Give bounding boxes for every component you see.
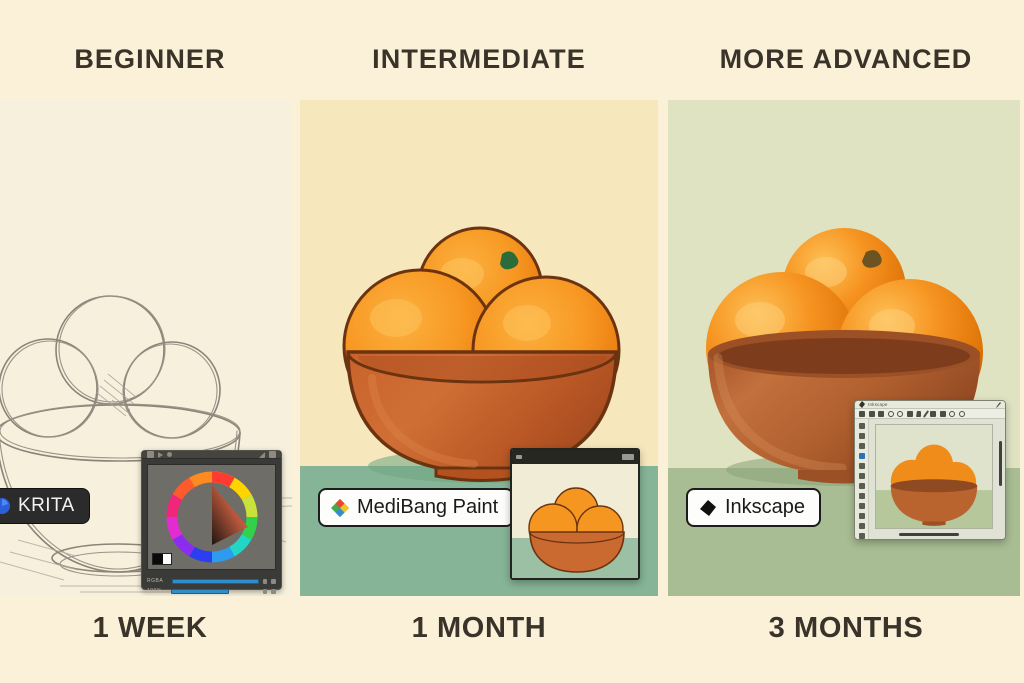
gradient-icon[interactable]	[949, 411, 955, 417]
inkscape-canvas-area[interactable]	[869, 419, 1005, 539]
krita-color-selector-docker[interactable]: RGBA 100%	[141, 450, 282, 590]
inkscape-body	[855, 419, 1005, 539]
paint-bucket-tool-icon[interactable]	[859, 533, 865, 539]
column-heading-intermediate: INTERMEDIATE	[300, 44, 658, 75]
star-icon[interactable]	[897, 411, 903, 417]
column-heading-beginner: BEGINNER	[0, 44, 300, 75]
gradient-tool-icon[interactable]	[859, 503, 865, 509]
miniwin-titlebar[interactable]	[512, 450, 638, 464]
slider-track-rgba[interactable]	[172, 579, 259, 584]
badge-krita[interactable]: KRITA	[0, 488, 90, 524]
text-tool-icon[interactable]	[859, 493, 865, 499]
foreground-background-swatch[interactable]	[152, 553, 172, 565]
miniwin-canvas[interactable]	[512, 464, 638, 578]
dropper-icon[interactable]	[959, 411, 965, 417]
rectangle-tool-icon[interactable]	[859, 463, 865, 469]
slider-label-rgba: RGBA	[147, 578, 168, 584]
panel-intermediate: MediBang Paint	[300, 100, 658, 596]
headings-row: BEGINNER INTERMEDIATE MORE ADVANCED	[0, 0, 1024, 100]
dropper-tool-icon[interactable]	[859, 513, 865, 519]
progress-comparison-graphic: BEGINNER INTERMEDIATE MORE ADVANCED	[0, 0, 1024, 683]
badge-medibang-paint[interactable]: MediBang Paint	[318, 488, 514, 527]
slider-label-opacity: 100%	[147, 588, 167, 594]
menu-icon[interactable]	[516, 455, 522, 459]
window-controls-icon[interactable]	[622, 454, 634, 460]
vertical-scrollbar[interactable]	[999, 441, 1002, 486]
slider-option-icon[interactable]	[263, 589, 268, 594]
zoom-icon[interactable]	[878, 411, 884, 417]
inkscape-window-title: Inkscape	[868, 402, 888, 407]
badge-krita-label: KRITA	[18, 495, 75, 517]
duration-intermediate: 1 MONTH	[300, 612, 658, 645]
slider-menu-icon[interactable]	[271, 579, 276, 584]
slider-track-opacity[interactable]	[171, 589, 228, 594]
pen-icon[interactable]	[922, 410, 928, 418]
calligraphy-icon[interactable]	[916, 411, 921, 417]
medibang-diamond-icon	[330, 498, 350, 518]
settings-icon[interactable]	[269, 451, 276, 458]
hue-ring-icon[interactable]	[160, 465, 264, 569]
panel-more-advanced: Inkscape Inkscape	[668, 100, 1020, 596]
slider-row[interactable]: 100%	[147, 588, 276, 594]
ellipse-tool-icon[interactable]	[859, 473, 865, 479]
inkscape-window[interactable]: Inkscape	[854, 400, 1006, 540]
copy-icon[interactable]	[147, 451, 154, 458]
connector-tool-icon[interactable]	[859, 523, 865, 529]
pencil-icon[interactable]	[996, 402, 1001, 408]
selector-tool-icon[interactable]	[859, 423, 865, 429]
inkscape-toolbar[interactable]	[855, 409, 1005, 419]
duration-more-advanced: 3 MONTHS	[668, 612, 1024, 645]
inkscape-canvas[interactable]	[875, 424, 993, 529]
badge-inkscape[interactable]: Inkscape	[686, 488, 821, 527]
slider-row[interactable]: RGBA	[147, 578, 276, 584]
pencil-tool-icon[interactable]	[859, 443, 865, 449]
docker-sliders: RGBA 100%	[142, 575, 281, 596]
slider-option-icon[interactable]	[263, 579, 268, 584]
panel-beginner: KRITA	[0, 100, 292, 596]
inkscape-diamond-icon	[698, 498, 718, 518]
select-icon[interactable]	[859, 411, 865, 417]
rectangle-icon[interactable]	[940, 411, 946, 417]
docker-titlebar[interactable]	[142, 451, 281, 459]
inkscape-tool-column[interactable]	[855, 419, 869, 539]
zoom-tool-icon[interactable]	[859, 453, 865, 459]
krita-logo-icon	[0, 497, 11, 515]
duration-beginner: 1 WEEK	[0, 612, 300, 645]
inkscape-titlebar[interactable]: Inkscape	[855, 401, 1005, 409]
badge-inkscape-label: Inkscape	[725, 496, 805, 519]
column-heading-more-advanced: MORE ADVANCED	[668, 44, 1024, 75]
star-tool-icon[interactable]	[859, 483, 865, 489]
node-tool-icon[interactable]	[859, 433, 865, 439]
slider-menu-icon[interactable]	[271, 589, 276, 594]
medibang-canvas-window[interactable]	[510, 448, 640, 580]
ellipse-icon[interactable]	[888, 411, 894, 417]
color-wheel[interactable]	[147, 464, 276, 570]
horizontal-scrollbar[interactable]	[899, 533, 959, 536]
spiral-icon[interactable]	[907, 411, 913, 417]
bowl-of-oranges-illustration	[876, 425, 992, 528]
dot-icon[interactable]	[167, 452, 172, 457]
arrow-icon[interactable]	[158, 452, 163, 458]
bowl-of-oranges-painting	[512, 464, 638, 578]
text-icon[interactable]	[930, 411, 936, 417]
triangle-icon[interactable]	[259, 452, 265, 458]
node-icon[interactable]	[869, 411, 875, 417]
durations-row: 1 WEEK 1 MONTH 3 MONTHS	[0, 596, 1024, 683]
badge-medibang-label: MediBang Paint	[357, 496, 498, 519]
inkscape-app-icon	[859, 401, 865, 408]
